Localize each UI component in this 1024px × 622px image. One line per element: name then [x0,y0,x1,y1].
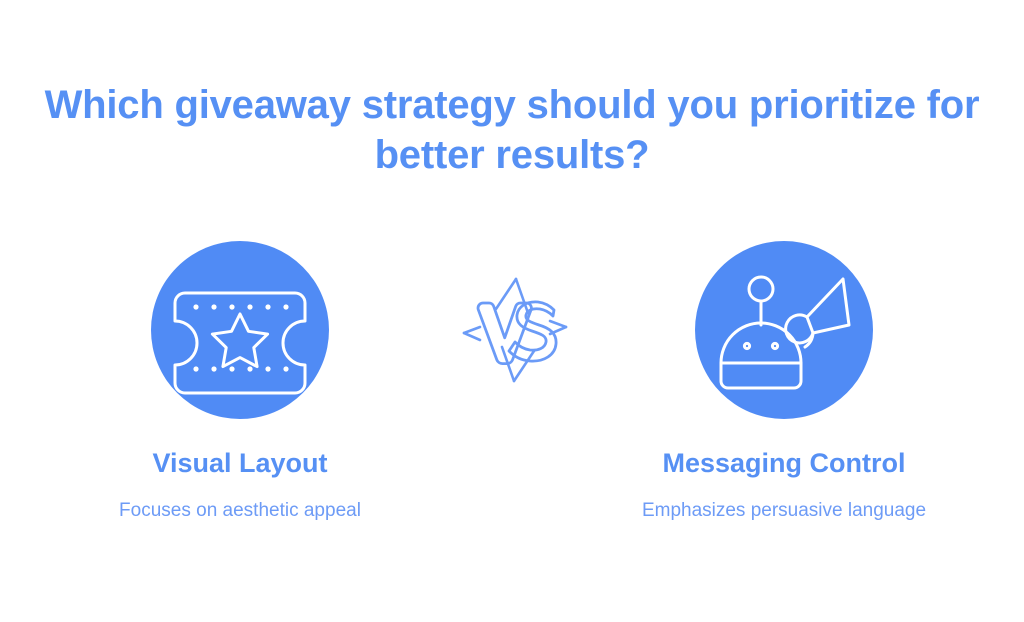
ticket-perforation-dots-top [193,304,288,309]
left-icon-badge [151,241,329,419]
comparison-option-right[interactable]: Messaging Control Emphasizes persuasive … [574,228,994,523]
ticket-perforation-dots-bottom [193,366,288,371]
left-option-subtitle: Focuses on aesthetic appeal [30,499,450,523]
right-option-subtitle: Emphasizes persuasive language [574,499,994,523]
comparison-slide: Which giveaway strategy should you prior… [0,0,1024,622]
right-icon-badge [695,241,873,419]
robot-eye-right [772,343,777,348]
versus-badge [450,265,580,395]
ticket-star-icon [151,241,329,419]
left-option-title: Visual Layout [30,447,450,479]
robot-megaphone-icon [695,241,873,419]
robot-antenna-bulb [749,277,773,301]
megaphone-cone [807,279,849,333]
vs-burst-icon [450,265,580,395]
comparison-row: Visual Layout Focuses on aesthetic appea… [0,228,1024,558]
right-option-title: Messaging Control [574,447,994,479]
comparison-option-left[interactable]: Visual Layout Focuses on aesthetic appea… [30,228,450,523]
robot-eye-left [744,343,749,348]
robot-head [721,323,801,388]
page-title: Which giveaway strategy should you prior… [42,80,982,180]
